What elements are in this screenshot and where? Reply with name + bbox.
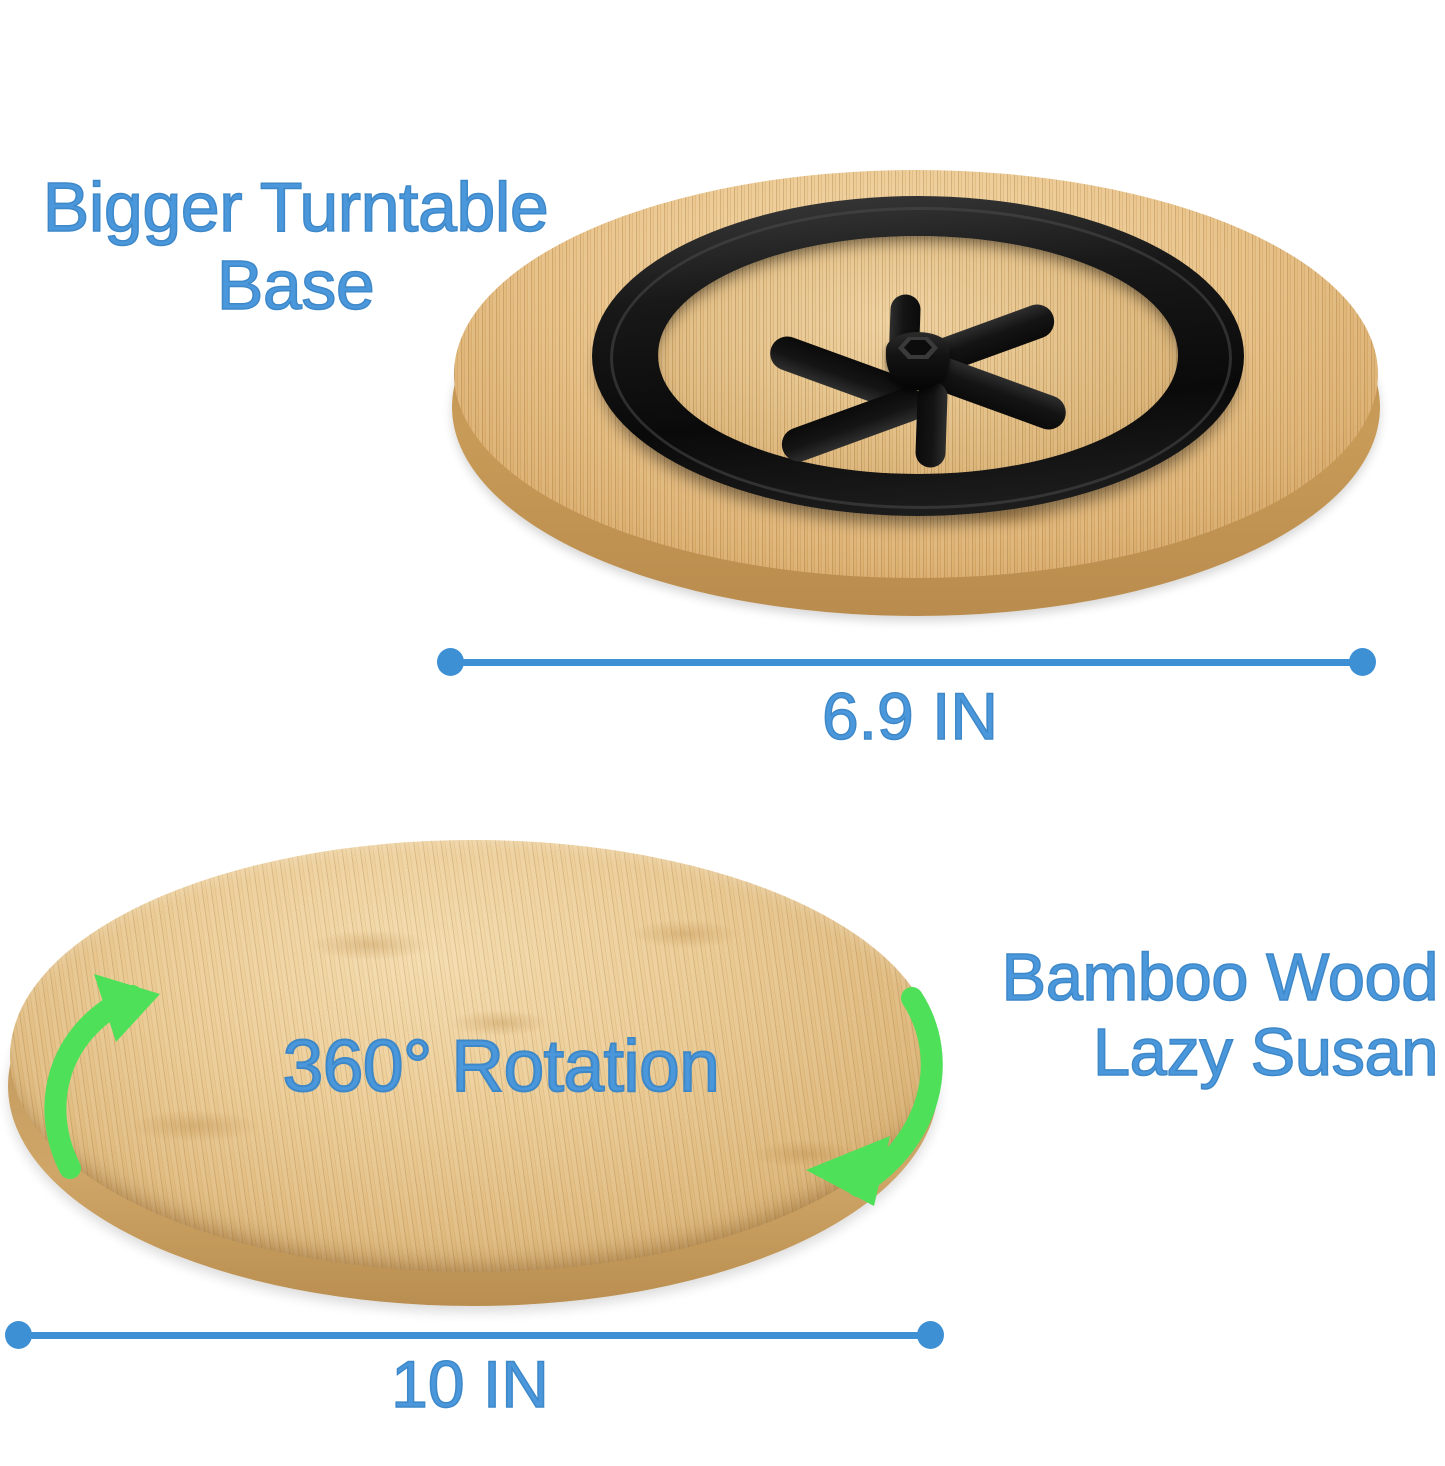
curved-arrow-counterclockwise-icon xyxy=(32,950,222,1180)
dimension-label-bottom: 10 IN xyxy=(220,1346,720,1422)
dimension-label-top: 6.9 IN xyxy=(660,678,1160,754)
dimension-line-bottom xyxy=(20,1332,930,1339)
page-title-bigger-turntable-base: Bigger Turntable Base xyxy=(8,168,583,325)
product-image-turntable-base xyxy=(450,168,1382,648)
dimension-dot-icon-right xyxy=(1349,648,1376,676)
dimension-line-top xyxy=(452,659,1362,666)
product-infographic: Bigger Turntable Base 6.9 IN 360° Rotati… xyxy=(0,0,1445,1466)
product-label-bamboo-lazy-susan: Bamboo Wood Lazy Susan xyxy=(830,940,1438,1090)
black-turntable-ring xyxy=(592,196,1244,536)
dimension-dot-icon-left xyxy=(5,1321,32,1349)
turntable-spoke-down xyxy=(915,381,948,468)
dimension-dot-icon-right xyxy=(917,1321,944,1349)
dimension-dot-icon-left xyxy=(437,648,464,676)
rotation-label: 360° Rotation xyxy=(196,1026,806,1108)
